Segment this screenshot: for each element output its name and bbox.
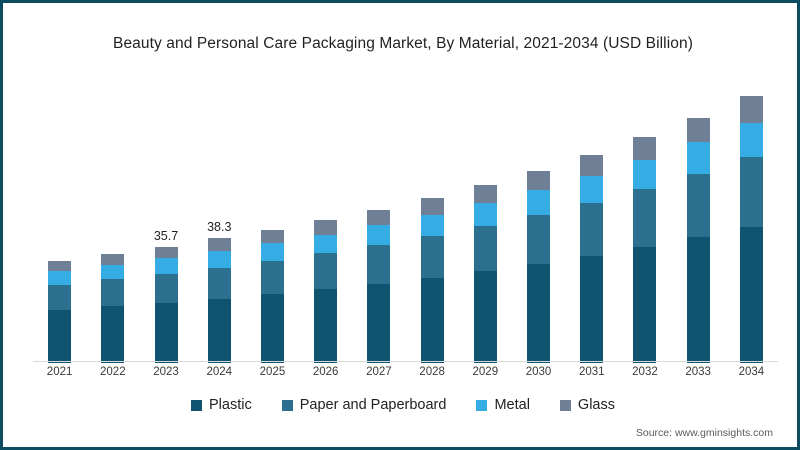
bar-segment-plastic-2024[interactable]	[208, 299, 231, 363]
x-tick-2029: 2029	[462, 366, 508, 378]
stacked-bar[interactable]	[633, 137, 656, 363]
x-tick-2030: 2030	[516, 366, 562, 378]
bar-segment-plastic-2032[interactable]	[633, 247, 656, 363]
bar-segment-metal-2033[interactable]	[687, 142, 710, 174]
legend-item-glass[interactable]: Glass	[560, 397, 615, 413]
bar-segment-glass-2021[interactable]	[48, 261, 71, 272]
x-axis-baseline	[33, 361, 778, 362]
stacked-bar[interactable]	[101, 254, 124, 363]
bar-segment-paper-2025[interactable]	[261, 261, 284, 294]
chart-title: Beauty and Personal Care Packaging Marke…	[3, 35, 800, 53]
bar-segment-glass-2029[interactable]	[474, 185, 497, 203]
x-tick-2033: 2033	[675, 366, 721, 378]
x-tick-2022: 2022	[90, 366, 136, 378]
legend-item-metal[interactable]: Metal	[476, 397, 529, 413]
bar-segment-paper-2030[interactable]	[527, 215, 550, 264]
bar-segment-metal-2031[interactable]	[580, 176, 603, 203]
bar-segment-plastic-2023[interactable]	[155, 303, 178, 363]
legend-label: Paper and Paperboard	[300, 397, 447, 413]
stacked-bar[interactable]	[527, 171, 550, 363]
bar-segment-metal-2030[interactable]	[527, 190, 550, 215]
bar-segment-plastic-2030[interactable]	[527, 264, 550, 363]
chart-figure: Beauty and Personal Care Packaging Marke…	[0, 0, 800, 450]
legend-item-plastic[interactable]: Plastic	[191, 397, 252, 413]
stacked-bar[interactable]	[367, 210, 390, 363]
bar-segment-plastic-2022[interactable]	[101, 306, 124, 363]
bar-segment-paper-2021[interactable]	[48, 285, 71, 310]
stacked-bar[interactable]	[261, 230, 284, 363]
bar-segment-metal-2025[interactable]	[261, 243, 284, 261]
legend-label: Metal	[494, 397, 529, 413]
bar-segment-paper-2032[interactable]	[633, 189, 656, 247]
bar-segment-paper-2034[interactable]	[740, 157, 763, 226]
stacked-bar[interactable]	[48, 261, 71, 363]
x-tick-2026: 2026	[303, 366, 349, 378]
bar-segment-plastic-2027[interactable]	[367, 284, 390, 363]
chart-legend: PlasticPaper and PaperboardMetalGlass	[3, 397, 800, 413]
bar-segment-glass-2031[interactable]	[580, 155, 603, 176]
bar-segment-plastic-2025[interactable]	[261, 294, 284, 363]
bar-segment-glass-2026[interactable]	[314, 220, 337, 235]
bar-segment-metal-2027[interactable]	[367, 225, 390, 245]
x-tick-2021: 2021	[37, 366, 83, 378]
legend-label: Glass	[578, 397, 615, 413]
legend-swatch-icon	[191, 400, 202, 411]
bar-segment-plastic-2029[interactable]	[474, 271, 497, 363]
legend-swatch-icon	[282, 400, 293, 411]
stacked-bar[interactable]	[580, 155, 603, 363]
bar-segment-paper-2028[interactable]	[421, 236, 444, 278]
bar-segment-glass-2028[interactable]	[421, 198, 444, 215]
bar-segment-metal-2022[interactable]	[101, 265, 124, 279]
x-tick-2024: 2024	[196, 366, 242, 378]
bar-segment-metal-2032[interactable]	[633, 160, 656, 189]
bar-segment-paper-2026[interactable]	[314, 253, 337, 289]
bar-segment-paper-2029[interactable]	[474, 226, 497, 271]
bar-segment-paper-2024[interactable]	[208, 268, 231, 299]
bar-segment-glass-2023[interactable]	[155, 247, 178, 259]
bar-segment-glass-2033[interactable]	[687, 118, 710, 142]
bar-segment-glass-2027[interactable]	[367, 210, 390, 226]
bar-segment-plastic-2028[interactable]	[421, 278, 444, 363]
x-tick-2025: 2025	[249, 366, 295, 378]
x-tick-2031: 2031	[569, 366, 615, 378]
legend-item-paper-and-paperboard[interactable]: Paper and Paperboard	[282, 397, 447, 413]
stacked-bar[interactable]	[208, 238, 231, 363]
x-tick-2027: 2027	[356, 366, 402, 378]
bar-segment-glass-2034[interactable]	[740, 96, 763, 123]
bar-segment-glass-2024[interactable]	[208, 238, 231, 251]
bar-segment-glass-2022[interactable]	[101, 254, 124, 265]
bar-segment-plastic-2034[interactable]	[740, 227, 763, 363]
bar-segment-glass-2025[interactable]	[261, 230, 284, 244]
stacked-bar[interactable]	[314, 220, 337, 363]
bar-segment-metal-2034[interactable]	[740, 123, 763, 158]
x-tick-2034: 2034	[728, 366, 774, 378]
x-tick-2023: 2023	[143, 366, 189, 378]
x-tick-2028: 2028	[409, 366, 455, 378]
bar-segment-glass-2032[interactable]	[633, 137, 656, 160]
stacked-bar[interactable]	[740, 96, 763, 363]
bar-segment-glass-2030[interactable]	[527, 171, 550, 190]
x-axis-tick-labels: 2021202220232024202520262027202820292030…	[33, 366, 778, 388]
stacked-bar[interactable]	[155, 247, 178, 363]
bar-segment-paper-2031[interactable]	[580, 203, 603, 256]
bar-segment-metal-2023[interactable]	[155, 258, 178, 273]
source-label: Source: www.gminsights.com	[636, 427, 773, 439]
bar-segment-plastic-2033[interactable]	[687, 237, 710, 363]
bar-segment-metal-2024[interactable]	[208, 251, 231, 267]
bar-segment-metal-2029[interactable]	[474, 203, 497, 226]
bar-value-label-2024: 38.3	[207, 220, 231, 234]
bar-segment-paper-2023[interactable]	[155, 274, 178, 303]
stacked-bar[interactable]	[687, 118, 710, 363]
bar-segment-paper-2022[interactable]	[101, 279, 124, 306]
plot-area: 35.738.3	[33, 73, 778, 363]
bar-segment-plastic-2026[interactable]	[314, 289, 337, 363]
bar-segment-paper-2033[interactable]	[687, 174, 710, 237]
x-tick-2032: 2032	[622, 366, 668, 378]
legend-swatch-icon	[560, 400, 571, 411]
bar-segment-metal-2026[interactable]	[314, 235, 337, 254]
bar-segment-metal-2028[interactable]	[421, 215, 444, 237]
bar-segment-plastic-2021[interactable]	[48, 310, 71, 363]
stacked-bar[interactable]	[474, 185, 497, 363]
bar-value-label-2023: 35.7	[154, 229, 178, 243]
legend-swatch-icon	[476, 400, 487, 411]
bar-segment-metal-2021[interactable]	[48, 271, 71, 284]
stacked-bar[interactable]	[421, 198, 444, 363]
legend-label: Plastic	[209, 397, 252, 413]
bar-segment-paper-2027[interactable]	[367, 245, 390, 284]
bar-segment-plastic-2031[interactable]	[580, 256, 603, 363]
